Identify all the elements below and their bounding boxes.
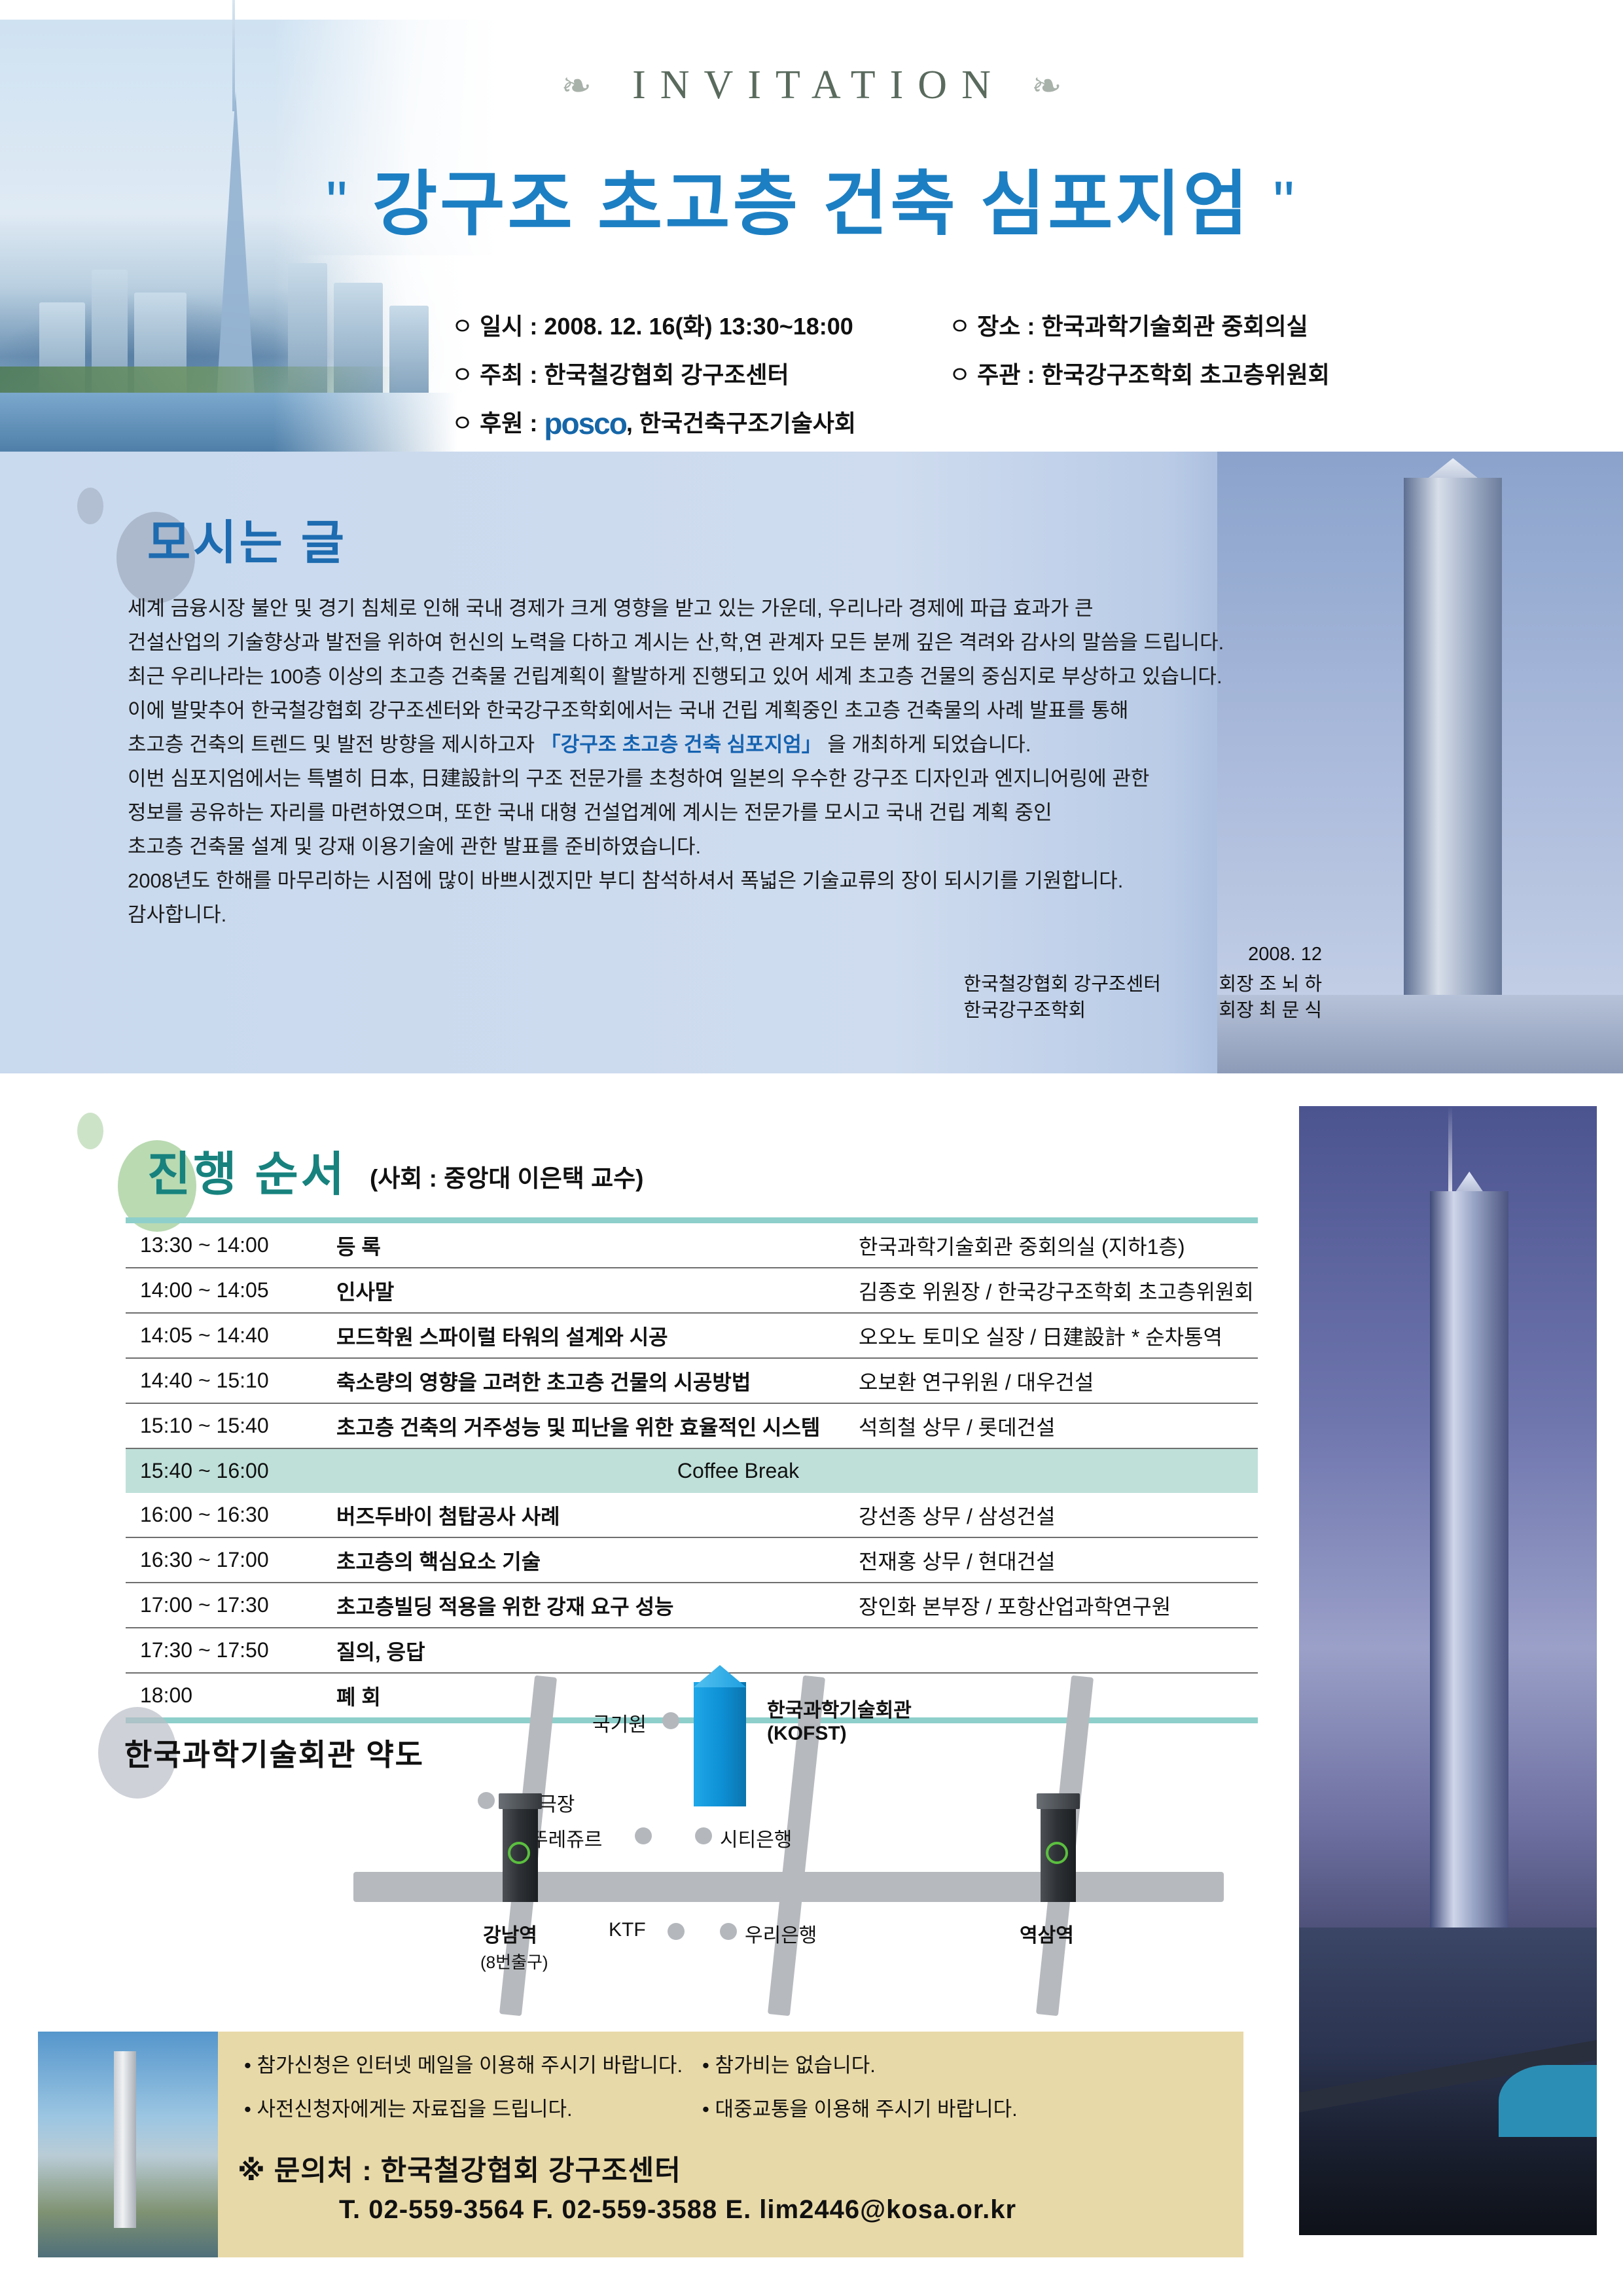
footer-note-row: • 사전신청자에게는 자료집을 드립니다. • 대중교통을 이용해 주시기 바랍…	[244, 2092, 1213, 2122]
footer-info-box: • 참가신청은 인터넷 메일을 이용해 주시기 바랍니다. • 참가비는 없습니…	[218, 2032, 1243, 2257]
greeting-paragraph-highlight: 초고층 건축의 트렌드 및 발전 방향을 제시하고자 「강구조 초고층 건축 심…	[128, 728, 1306, 761]
meta-bullet-icon: ㅇ	[452, 313, 473, 340]
program-speaker: 오보환 연구위원 / 대우건설	[859, 1366, 1258, 1396]
decorative-dot	[77, 488, 103, 524]
meta-organizer-label: 주관 : 한국강구조학회 초고층위원회	[977, 361, 1330, 388]
poster-page: ❧ INVITATION ❧ " 강구조 초고층 건축 심포지엄 " ㅇ일시 :…	[0, 0, 1623, 2296]
title-quote-close: "	[1273, 170, 1297, 236]
signature-org-2: 한국강구조학회	[963, 997, 1219, 1024]
signature-block: 2008. 12 한국철강협회 강구조센터 회장 조 뇌 하 한국강구조학회 회…	[963, 941, 1322, 1024]
meta-row: ㅇ후원 : posco, 한국건축구조기술사회	[452, 404, 1499, 441]
table-row: 15:10 ~ 15:40초고층 건축의 거주성능 및 피난을 위한 효율적인 …	[126, 1404, 1258, 1449]
map-venue-name: 한국과학기술회관	[767, 1694, 912, 1723]
program-time: 13:30 ~ 14:00	[126, 1233, 336, 1257]
map-dot	[662, 1712, 679, 1729]
hero-fade-overlay	[0, 393, 497, 452]
program-speaker: 전재홍 상무 / 현대건설	[859, 1545, 1258, 1575]
meta-row: ㅇ일시 : 2008. 12. 16(화) 13:30~18:00 ㅇ장소 : …	[452, 308, 1499, 342]
signature-date: 2008. 12	[963, 941, 1322, 967]
program-topic: 등 록	[336, 1230, 859, 1261]
night-city-base	[1299, 1928, 1597, 2235]
map-dot	[695, 1827, 712, 1844]
signature-row: 한국철강협회 강구조센터 회장 조 뇌 하	[963, 971, 1322, 997]
program-topic: Coffee Break	[336, 1459, 1258, 1483]
meta-sponsor-rest: , 한국건축구조기술사회	[626, 410, 856, 437]
page-title: " 강구조 초고층 건축 심포지엄 "	[0, 147, 1623, 249]
table-row: 16:00 ~ 16:30버즈두바이 첨탑공사 사례강선종 상무 / 삼성건설	[126, 1493, 1258, 1538]
signature-role-1: 회장 조 뇌 하	[1219, 971, 1322, 997]
meta-organizer: ㅇ주관 : 한국강구조학회 초고층위원회	[949, 356, 1330, 390]
meta-host: ㅇ주최 : 한국철강협회 강구조센터	[452, 356, 949, 390]
signature-role-2: 회장 최 문 식	[1219, 997, 1322, 1024]
map-dot	[668, 1923, 685, 1940]
yeoksam-station-marker	[1041, 1804, 1076, 1902]
program-topic: 초고층의 핵심요소 기술	[336, 1545, 859, 1575]
program-time: 14:00 ~ 14:05	[126, 1278, 336, 1302]
greeting-paragraph: 이번 심포지엄에서는 특별히 日本, 日建設計의 구조 전문가를 초청하여 일본…	[128, 762, 1306, 795]
table-row: 14:00 ~ 14:05인사말김종호 위원장 / 한국강구조학회 초고층위원회	[126, 1268, 1258, 1314]
program-table: 13:30 ~ 14:00등 록한국과학기술회관 중회의실 (지하1층)14:0…	[126, 1217, 1258, 1723]
map-dot	[635, 1827, 652, 1844]
program-title: 진행 순서	[147, 1136, 347, 1204]
program-break-row: 15:40 ~ 16:00Coffee Break	[126, 1449, 1258, 1493]
program-time: 15:40 ~ 16:00	[126, 1459, 336, 1483]
program-speaker: 김종호 위원장 / 한국강구조학회 초고층위원회	[859, 1276, 1258, 1306]
symposium-highlight: 「강구조 초고층 건축 심포지엄」	[541, 733, 822, 756]
map-label-gangnam-station: 강남역	[483, 1919, 537, 1948]
highlight-after: 을 개최하게 되었습니다.	[822, 733, 1031, 756]
greeting-title: 모시는 글	[147, 504, 347, 573]
meta-bullet-icon: ㅇ	[949, 361, 971, 388]
title-text: 강구조 초고층 건축 심포지엄	[372, 164, 1251, 243]
program-speaker: 한국과학기술회관 중회의실 (지하1층)	[859, 1230, 1258, 1261]
meta-bullet-icon: ㅇ	[452, 361, 473, 388]
program-topic: 축소량의 영향을 고려한 초고층 건물의 시공방법	[336, 1366, 859, 1396]
table-row: 14:40 ~ 15:10축소량의 영향을 고려한 초고층 건물의 시공방법오보…	[126, 1359, 1258, 1404]
map-venue-abbr: (KOFST)	[767, 1723, 847, 1745]
table-row: 14:05 ~ 14:40모드학원 스파이럴 타워의 설계와 시공오오노 토미오…	[126, 1314, 1258, 1359]
signature-org-1: 한국철강협회 강구조센터	[963, 971, 1219, 997]
highlight-before: 초고층 건축의 트렌드 및 발전 방향을 제시하고자	[128, 733, 541, 756]
meta-date: ㅇ일시 : 2008. 12. 16(화) 13:30~18:00	[452, 308, 949, 342]
program-speaker: 장인화 본부장 / 포항산업과학연구원	[859, 1590, 1258, 1621]
posco-logo: posco	[544, 406, 626, 440]
header-section: ❧ INVITATION ❧ " 강구조 초고층 건축 심포지엄 " ㅇ일시 :…	[0, 0, 1623, 452]
decorative-dot	[77, 1113, 103, 1149]
program-topic: 질의, 응답	[336, 1636, 859, 1666]
footer-tower-image	[38, 2032, 218, 2257]
footer-contact-label: ※ 문의처 : 한국철강협회 강구조센터	[238, 2148, 681, 2189]
table-row: 13:30 ~ 14:00등 록한국과학기술회관 중회의실 (지하1층)	[126, 1223, 1258, 1268]
night-tower-body	[1430, 1191, 1508, 1964]
map-label-gangnam-exit: (8번출구)	[480, 1949, 548, 1973]
footer-note-row: • 참가신청은 인터넷 메일을 이용해 주시기 바랍니다. • 참가비는 없습니…	[244, 2049, 1213, 2078]
footer-tower-body	[114, 2051, 136, 2228]
meta-host-label: 주최 : 한국철강협회 강구조센터	[480, 361, 789, 388]
map-label-tous-les-jours: 뚜레쥬르	[530, 1823, 602, 1852]
meta-sponsor-prefix: 후원 :	[480, 410, 537, 437]
greeting-paragraph: 정보를 공유하는 자리를 마련하였으며, 또한 국내 대형 건설업계에 계시는 …	[128, 797, 1306, 829]
program-time: 14:40 ~ 15:10	[126, 1369, 336, 1393]
map-label-citibank: 시티은행	[720, 1823, 792, 1852]
night-water	[1499, 2065, 1597, 2137]
greeting-paragraph: 세계 금융시장 불안 및 경기 침체로 인해 국내 경제가 크게 영향을 받고 …	[128, 592, 1306, 625]
meta-bullet-icon: ㅇ	[949, 313, 971, 340]
title-quote-open: "	[326, 170, 350, 236]
footer-note: • 참가비는 없습니다.	[702, 2049, 1160, 2078]
program-time: 16:00 ~ 16:30	[126, 1503, 336, 1527]
gangnam-station-marker	[503, 1804, 538, 1902]
invitation-banner: ❧ INVITATION ❧	[0, 62, 1623, 109]
event-meta: ㅇ일시 : 2008. 12. 16(화) 13:30~18:00 ㅇ장소 : …	[452, 308, 1499, 452]
program-time: 15:10 ~ 15:40	[126, 1414, 336, 1438]
flourish-left-icon: ❧	[561, 67, 592, 104]
signature-row: 한국강구조학회 회장 최 문 식	[963, 997, 1322, 1024]
greeting-paragraph: 건설산업의 기술향상과 발전을 위하여 헌신의 노력을 다하고 계시는 산,학,…	[128, 626, 1306, 659]
kofst-building-icon	[694, 1682, 746, 1806]
meta-date-label: 일시 : 2008. 12. 16(화) 13:30~18:00	[480, 313, 853, 340]
footer-contact-line: T. 02-559-3564 F. 02-559-3588 E. lim2446…	[339, 2195, 1016, 2225]
program-topic: 인사말	[336, 1276, 859, 1306]
program-moderator: (사회 : 중앙대 이은택 교수)	[370, 1158, 643, 1194]
greeting-body: 세계 금융시장 불안 및 경기 침체로 인해 국내 경제가 크게 영향을 받고 …	[128, 592, 1306, 933]
program-speaker: 강선종 상무 / 삼성건설	[859, 1500, 1258, 1530]
program-time: 18:00	[126, 1683, 336, 1708]
program-time: 14:05 ~ 14:40	[126, 1323, 336, 1348]
program-time: 17:00 ~ 17:30	[126, 1593, 336, 1617]
program-topic: 초고층 건축의 거주성능 및 피난을 위한 효율적인 시스템	[336, 1411, 859, 1441]
meta-row: ㅇ주최 : 한국철강협회 강구조센터 ㅇ주관 : 한국강구조학회 초고층위원회	[452, 356, 1499, 390]
footer-note: • 사전신청자에게는 자료집을 드립니다.	[244, 2092, 702, 2122]
program-speaker: 석희철 상무 / 롯데건설	[859, 1411, 1258, 1441]
map-label-woori-bank: 우리은행	[745, 1919, 817, 1948]
map-label-yeoksam-station: 역삼역	[1020, 1919, 1074, 1948]
flourish-right-icon: ❧	[1031, 67, 1062, 104]
footer-note: • 참가신청은 인터넷 메일을 이용해 주시기 바랍니다.	[244, 2049, 702, 2078]
table-row: 17:00 ~ 17:30초고층빌딩 적용을 위한 강재 요구 성능장인화 본부…	[126, 1583, 1258, 1628]
greeting-tower-body	[1404, 478, 1502, 1014]
program-time: 16:30 ~ 17:00	[126, 1548, 336, 1572]
footer-notes: • 참가신청은 인터넷 메일을 이용해 주시기 바랍니다. • 참가비는 없습니…	[244, 2049, 1213, 2136]
map-dot	[478, 1792, 495, 1809]
greeting-paragraph: 최근 우리나라는 100층 이상의 초고층 건축물 건립계획이 활발하게 진행되…	[128, 660, 1306, 693]
greeting-paragraph: 2008년도 한해를 마무리하는 시점에 많이 바쁘시겠지만 부디 참석하셔서 …	[128, 865, 1306, 897]
map-dot	[720, 1923, 737, 1940]
greeting-paragraph: 이에 발맞추어 한국철강협회 강구조센터와 한국강구조학회에서는 국내 건립 계…	[128, 694, 1306, 727]
night-tower-image	[1299, 1106, 1597, 2235]
greeting-paragraph: 감사합니다.	[128, 899, 1306, 931]
table-row: 17:30 ~ 17:50질의, 응답	[126, 1628, 1258, 1674]
program-time: 17:30 ~ 17:50	[126, 1638, 336, 1662]
meta-sponsor: ㅇ후원 : posco, 한국건축구조기술사회	[452, 404, 1237, 441]
footer-note: • 대중교통을 이용해 주시기 바랍니다.	[702, 2092, 1160, 2122]
greeting-paragraph: 초고층 건축물 설계 및 강재 이용기술에 관한 발표를 준비하였습니다.	[128, 831, 1306, 863]
program-topic: 초고층빌딩 적용을 위한 강재 요구 성능	[336, 1590, 859, 1621]
program-topic: 모드학원 스파이럴 타워의 설계와 시공	[336, 1321, 859, 1351]
meta-venue: ㅇ장소 : 한국과학기술회관 중회의실	[949, 308, 1308, 342]
meta-venue-label: 장소 : 한국과학기술회관 중회의실	[977, 313, 1308, 340]
table-row: 16:30 ~ 17:00초고층의 핵심요소 기술전재홍 상무 / 현대건설	[126, 1538, 1258, 1583]
program-topic: 버즈두바이 첨탑공사 사례	[336, 1500, 859, 1530]
map-label-ktf: KTF	[609, 1919, 646, 1941]
map-label-gukgiwon: 국기원	[592, 1708, 647, 1737]
program-speaker: 오오노 토미오 실장 / 日建設計 * 순차통역	[859, 1321, 1258, 1351]
invitation-label: INVITATION	[618, 62, 1005, 109]
meta-bullet-icon: ㅇ	[452, 410, 473, 437]
location-map: 한국과학기술회관 (KOFST) 국기원 시티극장 뚜레쥬르 시티은행 강남역 …	[327, 1676, 1257, 2016]
